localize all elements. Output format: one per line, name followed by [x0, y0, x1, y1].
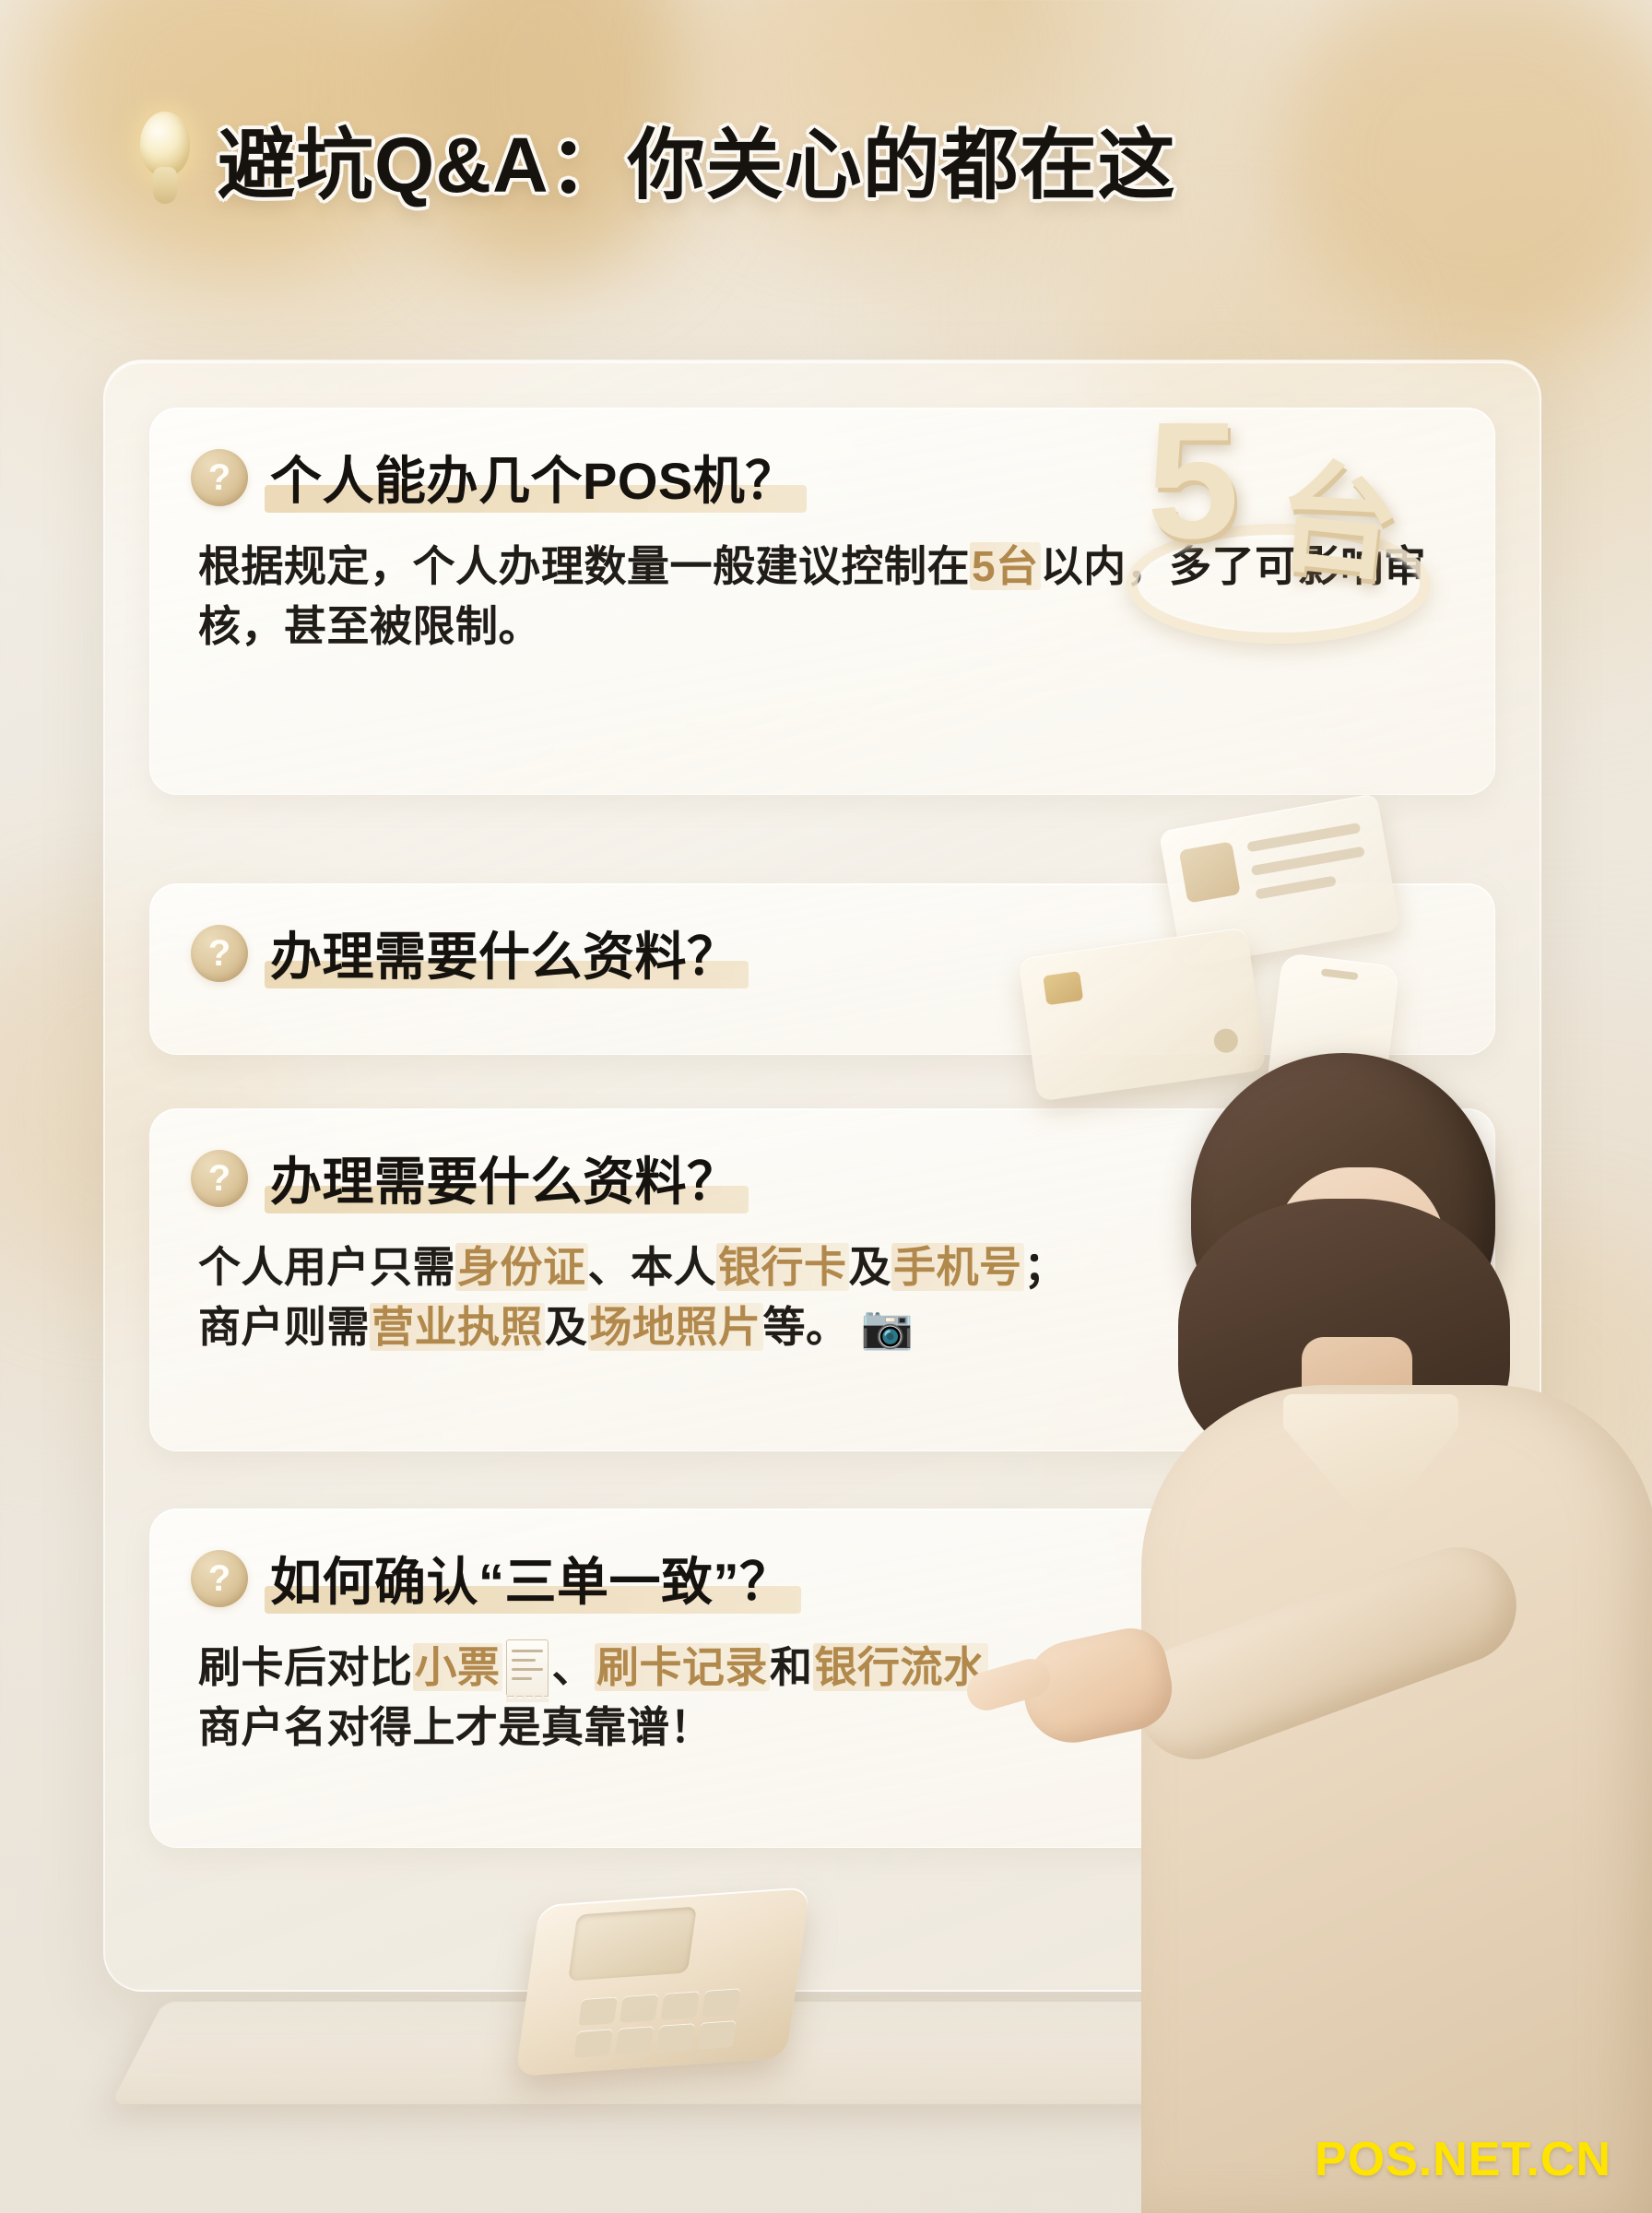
- body-text: 及: [545, 1303, 588, 1351]
- question-mark-icon: ?: [191, 925, 248, 982]
- faq-card-1[interactable]: ? 个人能办几个POS机？ 根据规定，个人办理数量一般建议控制在5台以内，多了可…: [149, 408, 1495, 795]
- pos-keypad: [573, 1988, 740, 2058]
- faq-question-title-wrap: 办理需要什么资料？: [270, 916, 739, 990]
- highlighted-text: 营业执照: [370, 1303, 545, 1351]
- highlighted-text: 小票: [413, 1643, 502, 1691]
- body-text: 和: [770, 1643, 813, 1691]
- lightbulb-icon: [136, 112, 194, 207]
- highlighted-text: 5台: [970, 542, 1041, 590]
- highlighted-text: 场地照片: [588, 1303, 763, 1351]
- receipt-icon: [506, 1639, 549, 1697]
- faq-question-title-wrap: 如何确认“三单一致”？: [270, 1541, 792, 1615]
- highlighted-text: 身份证: [455, 1243, 588, 1291]
- faq-question-header: ? 办理需要什么资料？: [191, 916, 1454, 990]
- body-text: 商户则需: [198, 1303, 370, 1351]
- site-watermark: POS.NET.CN: [1315, 2132, 1611, 2187]
- highlighted-text: 银行卡: [716, 1243, 849, 1291]
- woman-3d-figure: [914, 1033, 1652, 2213]
- body-text: 刷卡后对比: [198, 1643, 413, 1691]
- faq-question-title: 个人能办几个POS机？: [270, 440, 797, 515]
- faq-question-title: 办理需要什么资料？: [270, 1141, 739, 1215]
- pos-screen: [568, 1907, 697, 1982]
- body-text: 商户名对得上才是真靠谱！: [198, 1703, 713, 1751]
- body-text: 、本人: [588, 1243, 717, 1291]
- faq-question-title-wrap: 个人能办几个POS机？: [270, 440, 797, 515]
- faq-answer-body: 根据规定，个人办理数量一般建议控制在5台以内，多了可影响审核，甚至被限制。: [198, 537, 1454, 657]
- faq-question-title: 办理需要什么资料？: [270, 916, 739, 990]
- faq-question-title-wrap: 办理需要什么资料？: [270, 1141, 739, 1215]
- faq-question-title: 如何确认“三单一致”？: [270, 1541, 792, 1615]
- faq-card-2[interactable]: ? 办理需要什么资料？: [149, 883, 1495, 1055]
- question-mark-icon: ?: [191, 1150, 248, 1207]
- torso: [1141, 1385, 1652, 2213]
- page-title: 避坑Q&A：你关心的都在这: [218, 103, 1176, 215]
- page-title-row: 避坑Q&A：你关心的都在这: [136, 103, 1176, 215]
- body-text: 、: [552, 1643, 596, 1691]
- body-text: 等。 📷: [763, 1303, 914, 1351]
- faq-question-header: ? 个人能办几个POS机？: [191, 440, 1454, 515]
- body-text: 及: [849, 1243, 892, 1291]
- body-text: 个人用户只需: [198, 1243, 455, 1291]
- highlighted-text: 刷卡记录: [595, 1643, 770, 1691]
- question-mark-icon: ?: [191, 449, 248, 506]
- bokeh-blob-4: [1272, 0, 1652, 360]
- pos-terminal-icon: [513, 1863, 872, 2093]
- body-text: 根据规定，个人办理数量一般建议控制在: [198, 542, 970, 590]
- question-mark-icon: ?: [191, 1550, 248, 1607]
